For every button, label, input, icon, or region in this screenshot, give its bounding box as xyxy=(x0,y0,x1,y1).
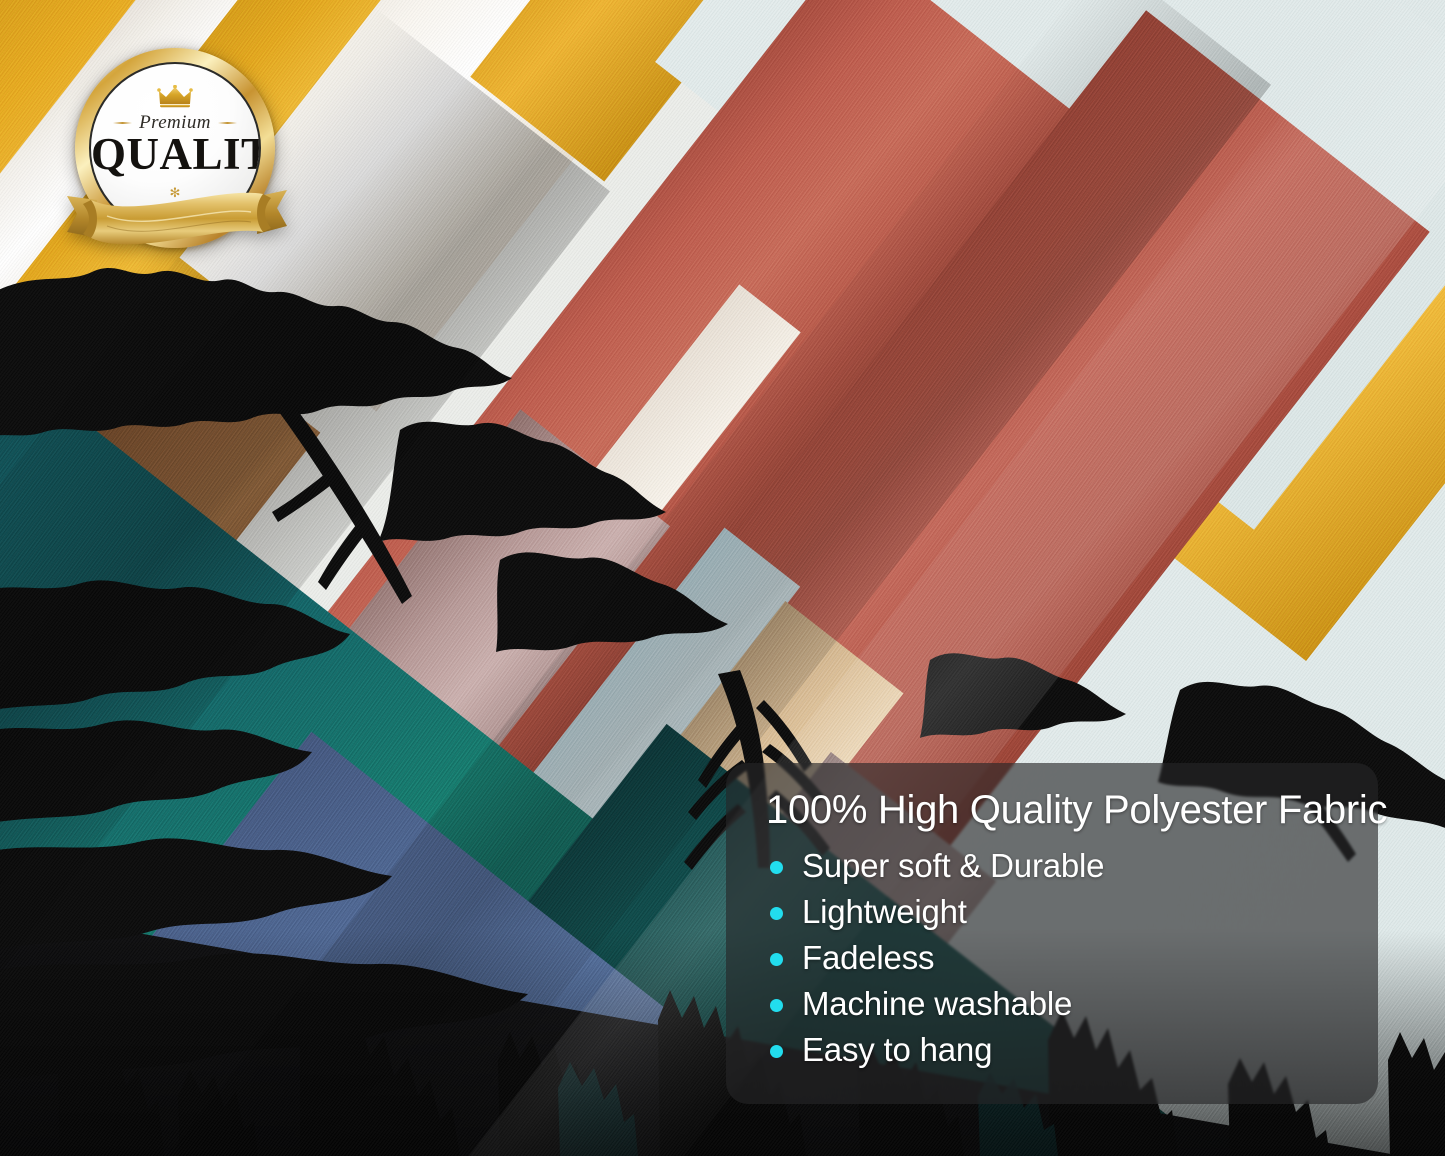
feature-heading: 100% High Quality Polyester Fabric xyxy=(766,789,1378,831)
feature-list-item: Super soft & Durable xyxy=(770,843,1378,889)
bullet-dot-icon xyxy=(770,907,783,920)
premium-quality-badge: Premium QUALITY ✻ xyxy=(63,42,291,270)
feature-list: Super soft & Durable Lightweight Fadeles… xyxy=(726,843,1378,1073)
badge-quality-label: QUALITY xyxy=(91,132,259,177)
feature-overlay-panel: 100% High Quality Polyester Fabric Super… xyxy=(726,763,1378,1104)
bullet-dot-icon xyxy=(770,861,783,874)
feature-label: Super soft & Durable xyxy=(802,847,1104,885)
feature-list-item: Easy to hang xyxy=(770,1027,1378,1073)
feature-label: Fadeless xyxy=(802,939,934,977)
badge-dash-right xyxy=(218,122,237,124)
crown-icon xyxy=(157,85,193,109)
bullet-dot-icon xyxy=(770,999,783,1012)
product-image: Premium QUALITY ✻ xyxy=(0,0,1445,1156)
feature-label: Machine washable xyxy=(802,985,1072,1023)
feature-list-item: Machine washable xyxy=(770,981,1378,1027)
bullet-dot-icon xyxy=(770,1045,783,1058)
badge-ribbon xyxy=(63,180,291,262)
feature-list-item: Lightweight xyxy=(770,889,1378,935)
feature-label: Lightweight xyxy=(802,893,967,931)
badge-dash-left xyxy=(113,122,132,124)
bullet-dot-icon xyxy=(770,953,783,966)
feature-list-item: Fadeless xyxy=(770,935,1378,981)
feature-label: Easy to hang xyxy=(802,1031,992,1069)
